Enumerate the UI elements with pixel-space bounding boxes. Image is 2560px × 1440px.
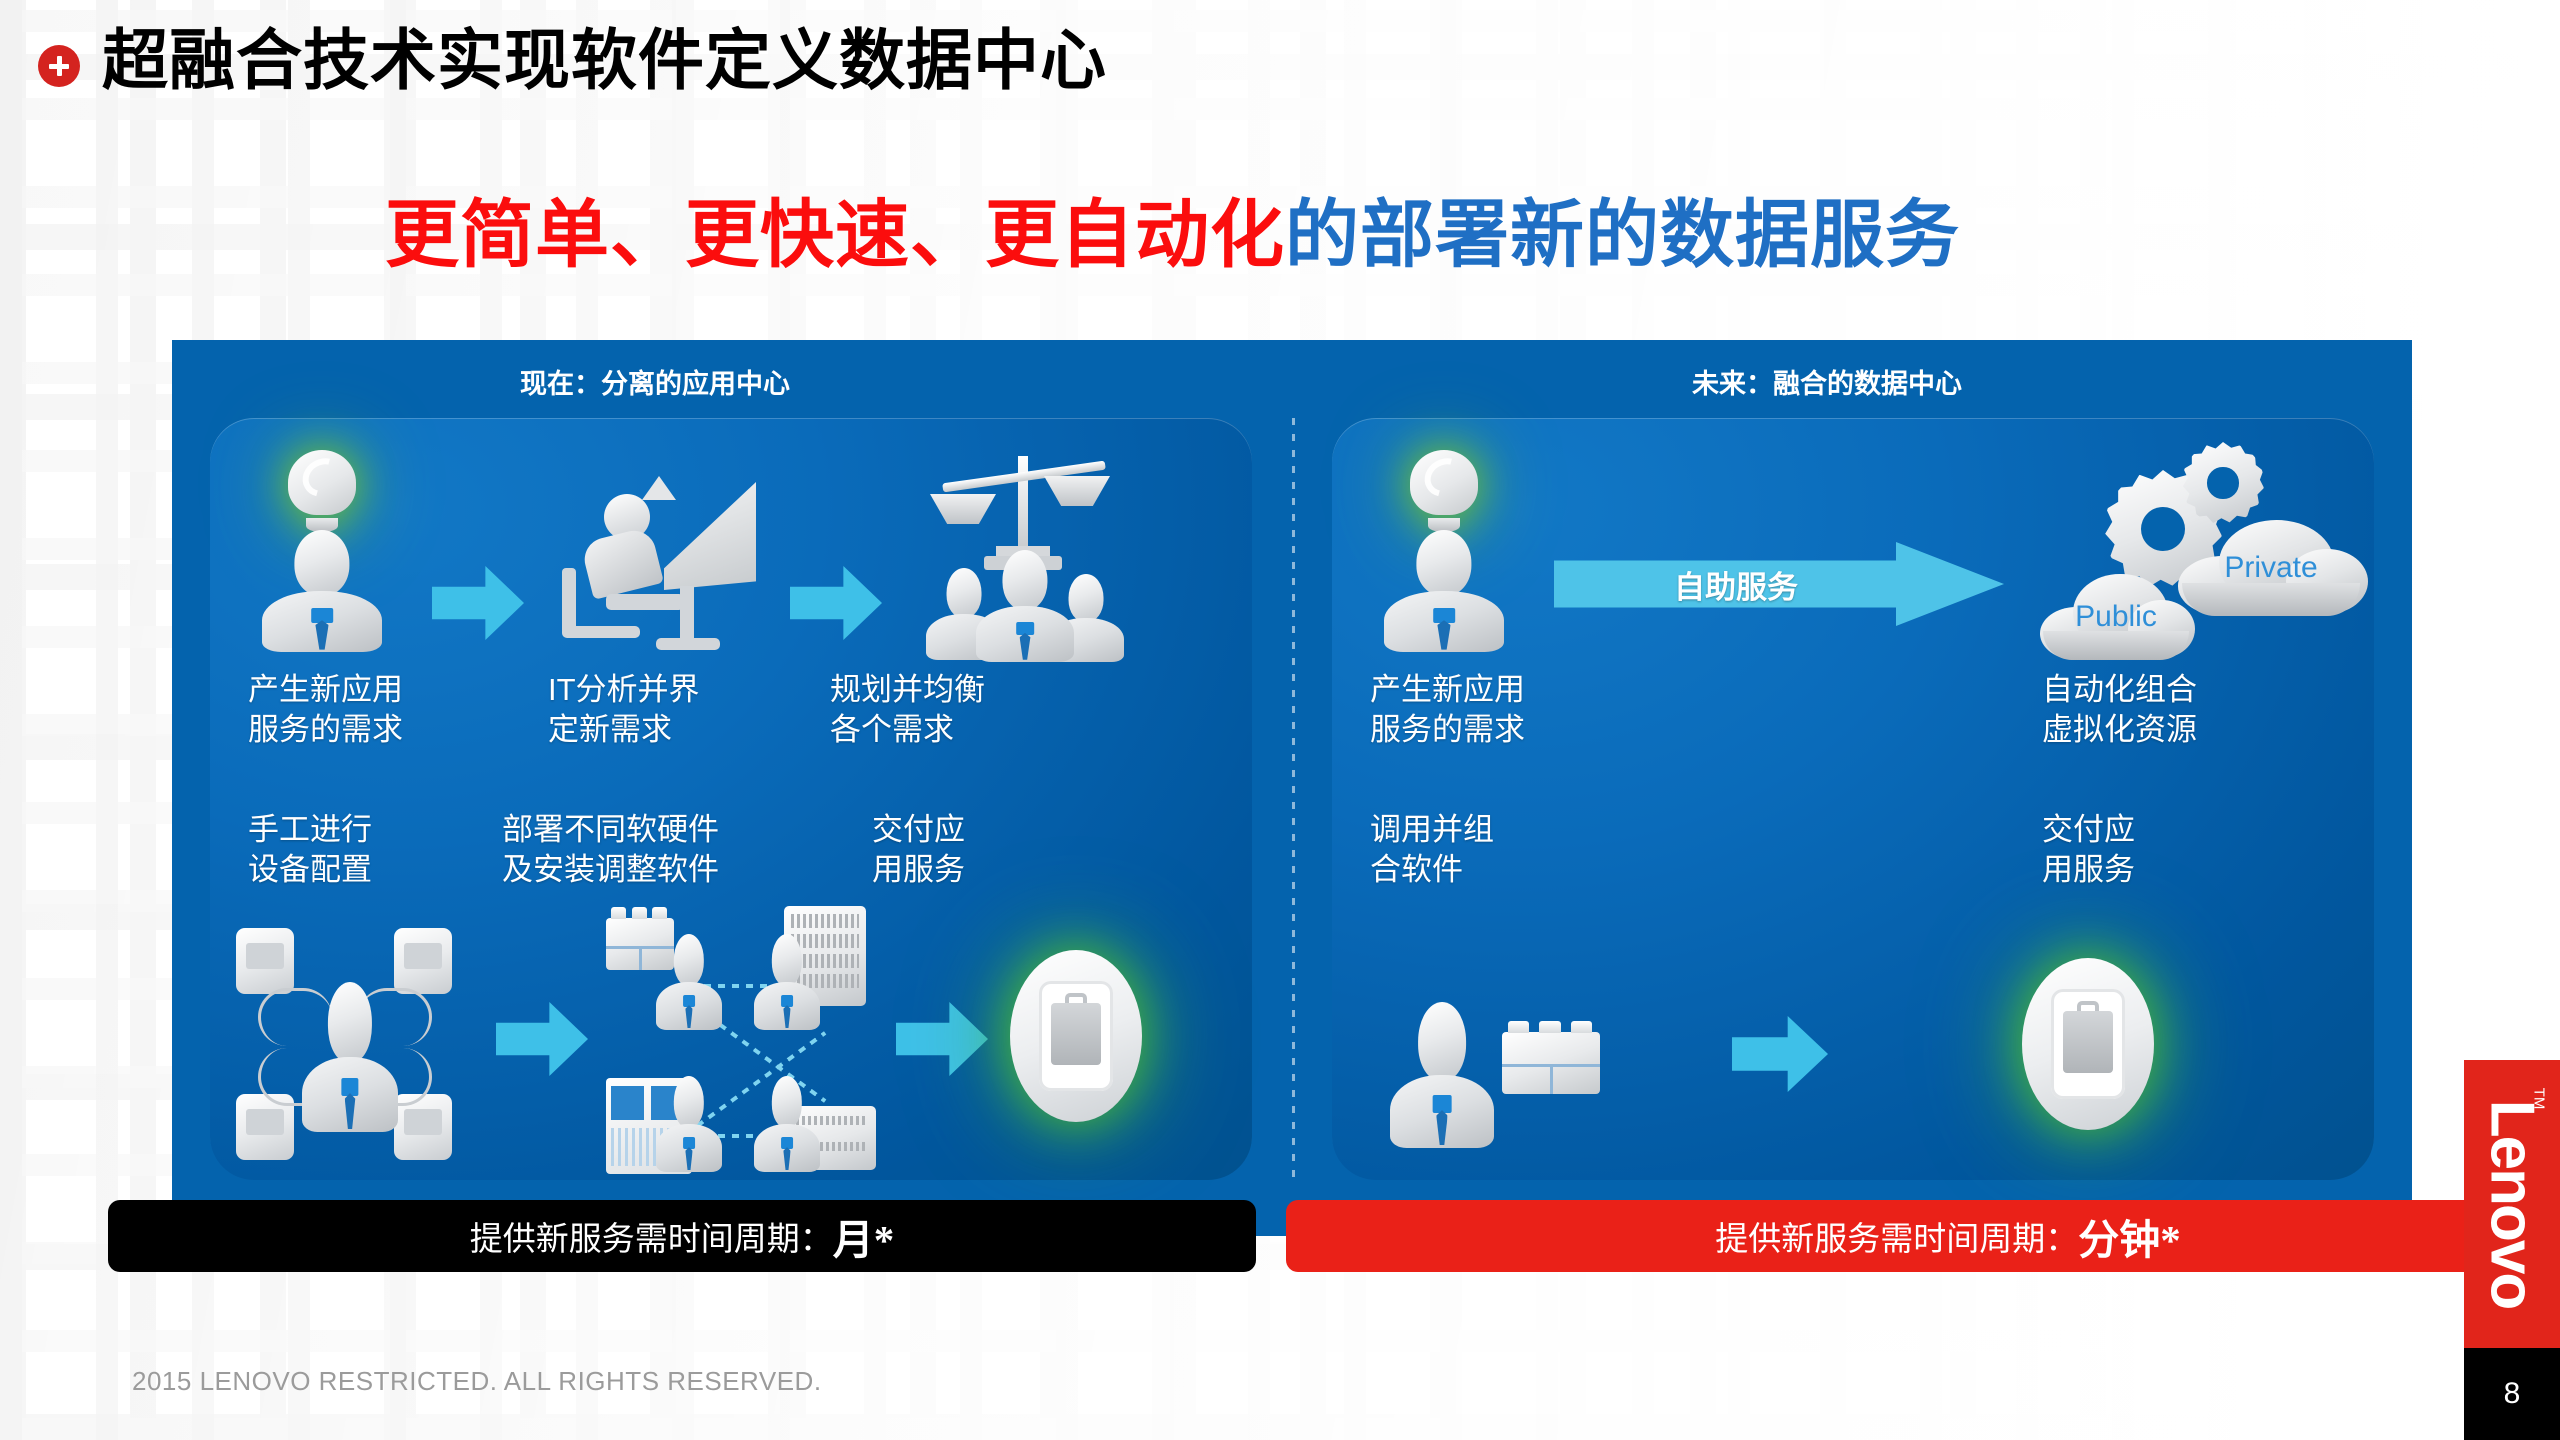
footer-copyright: 2015 LENOVO RESTRICTED. ALL RIGHTS RESER… xyxy=(132,1366,822,1397)
cloud-public-icon: Public xyxy=(2040,574,2192,660)
briefcase-glow-icon xyxy=(2022,958,2154,1130)
right-arrow-icon xyxy=(432,566,524,640)
diagram-canvas: 现在：分离的应用中心 未来：融合的数据中心 xyxy=(172,340,2412,1236)
person-icon xyxy=(1384,530,1504,652)
cloud-private-label: Private xyxy=(2178,551,2364,585)
right-step-label-2: 自动化组合 虚拟化资源 xyxy=(2042,670,2197,749)
slide-subtitle: 更简单、更快速、更自动化的部署新的数据服务 xyxy=(385,196,1960,274)
person-icon xyxy=(1390,1002,1494,1148)
subtitle-red-part: 更简单、更快速、更自动化 xyxy=(385,193,1285,276)
subtitle-blue-part: 的部署新的数据服务 xyxy=(1285,193,1960,276)
lightbulb-icon xyxy=(1410,450,1478,536)
server-mesh-icon xyxy=(606,906,876,1174)
right-arrow-icon xyxy=(496,1002,588,1076)
left-step-label-3: 规划并均衡 各个需求 xyxy=(830,670,985,749)
person-icon xyxy=(656,1076,722,1172)
left-step-label-6: 交付应 用服务 xyxy=(872,810,965,889)
page-number-badge: 8 xyxy=(2464,1348,2560,1440)
cloud-public-label: Public xyxy=(2040,600,2192,634)
right-footer-bar-text: 提供新服务需时间周期： xyxy=(1715,1212,2078,1260)
scales-people-icon xyxy=(920,450,1130,660)
right-step-label-4: 交付应 用服务 xyxy=(2042,810,2135,889)
cloud-private-icon: Private xyxy=(2178,520,2364,616)
person-icon xyxy=(976,550,1074,662)
gear-icon xyxy=(2182,442,2264,524)
left-footer-bar-emphasis: 月* xyxy=(833,1206,895,1266)
right-panel-card: 自助服务 Private Public 产生新应用 服务的需求 自动化组合 虚拟… xyxy=(1332,418,2374,1180)
right-step-label-1: 产生新应用 服务的需求 xyxy=(1370,670,1525,749)
right-arrow-icon xyxy=(896,1002,988,1076)
lightbulb-icon xyxy=(288,450,356,536)
person-icon xyxy=(754,934,820,1030)
right-arrow-icon xyxy=(790,566,882,640)
left-step-label-1: 产生新应用 服务的需求 xyxy=(248,670,403,749)
left-step-label-2: IT分析并界 定新需求 xyxy=(548,670,700,749)
right-panel-heading: 未来：融合的数据中心 xyxy=(1692,362,1962,401)
lenovo-trademark-symbol: TM xyxy=(2531,1088,2548,1110)
page-title: 超融合技术实现软件定义数据中心 xyxy=(102,26,1107,95)
title-row: 超融合技术实现软件定义数据中心 xyxy=(38,26,1107,95)
left-panel-card: 产生新应用 服务的需求 IT分析并界 定新需求 规划并均衡 各个需求 手工进行 … xyxy=(210,418,1252,1180)
briefcase-glow-icon xyxy=(1010,950,1142,1122)
person-icon xyxy=(656,934,722,1030)
right-footer-bar-emphasis: 分钟* xyxy=(2078,1206,2181,1266)
left-panel-heading: 现在：分离的应用中心 xyxy=(520,362,790,401)
person-wired-devices-icon xyxy=(228,928,472,1166)
left-step-label-4: 手工进行 设备配置 xyxy=(248,810,372,889)
person-icon xyxy=(302,982,398,1132)
panel-divider xyxy=(1292,418,1295,1178)
self-service-label: 自助服务 xyxy=(1674,562,1798,607)
right-footer-bar: 提供新服务需时间周期：分钟* xyxy=(1286,1200,2560,1272)
person-blocks-icon xyxy=(1390,988,1630,1158)
self-service-arrow-banner: 自助服务 xyxy=(1554,542,2004,626)
clouds-gears-icon: Private Public xyxy=(2032,436,2332,666)
left-step-label-5: 部署不同软硬件 及安装调整软件 xyxy=(502,810,719,889)
person-icon xyxy=(754,1076,820,1172)
left-footer-bar: 提供新服务需时间周期：月* xyxy=(108,1200,1256,1272)
lenovo-logo: Lenovo TM xyxy=(2464,1060,2560,1348)
right-arrow-icon xyxy=(1732,1016,1828,1092)
left-footer-bar-text: 提供新服务需时间周期： xyxy=(470,1212,833,1260)
lenovo-wordmark: Lenovo xyxy=(2477,1100,2548,1308)
person-at-drafting-desk-icon xyxy=(546,476,764,656)
plus-circle-icon xyxy=(38,45,80,87)
person-icon xyxy=(262,530,382,652)
right-step-label-3: 调用并组 合软件 xyxy=(1370,810,1494,889)
